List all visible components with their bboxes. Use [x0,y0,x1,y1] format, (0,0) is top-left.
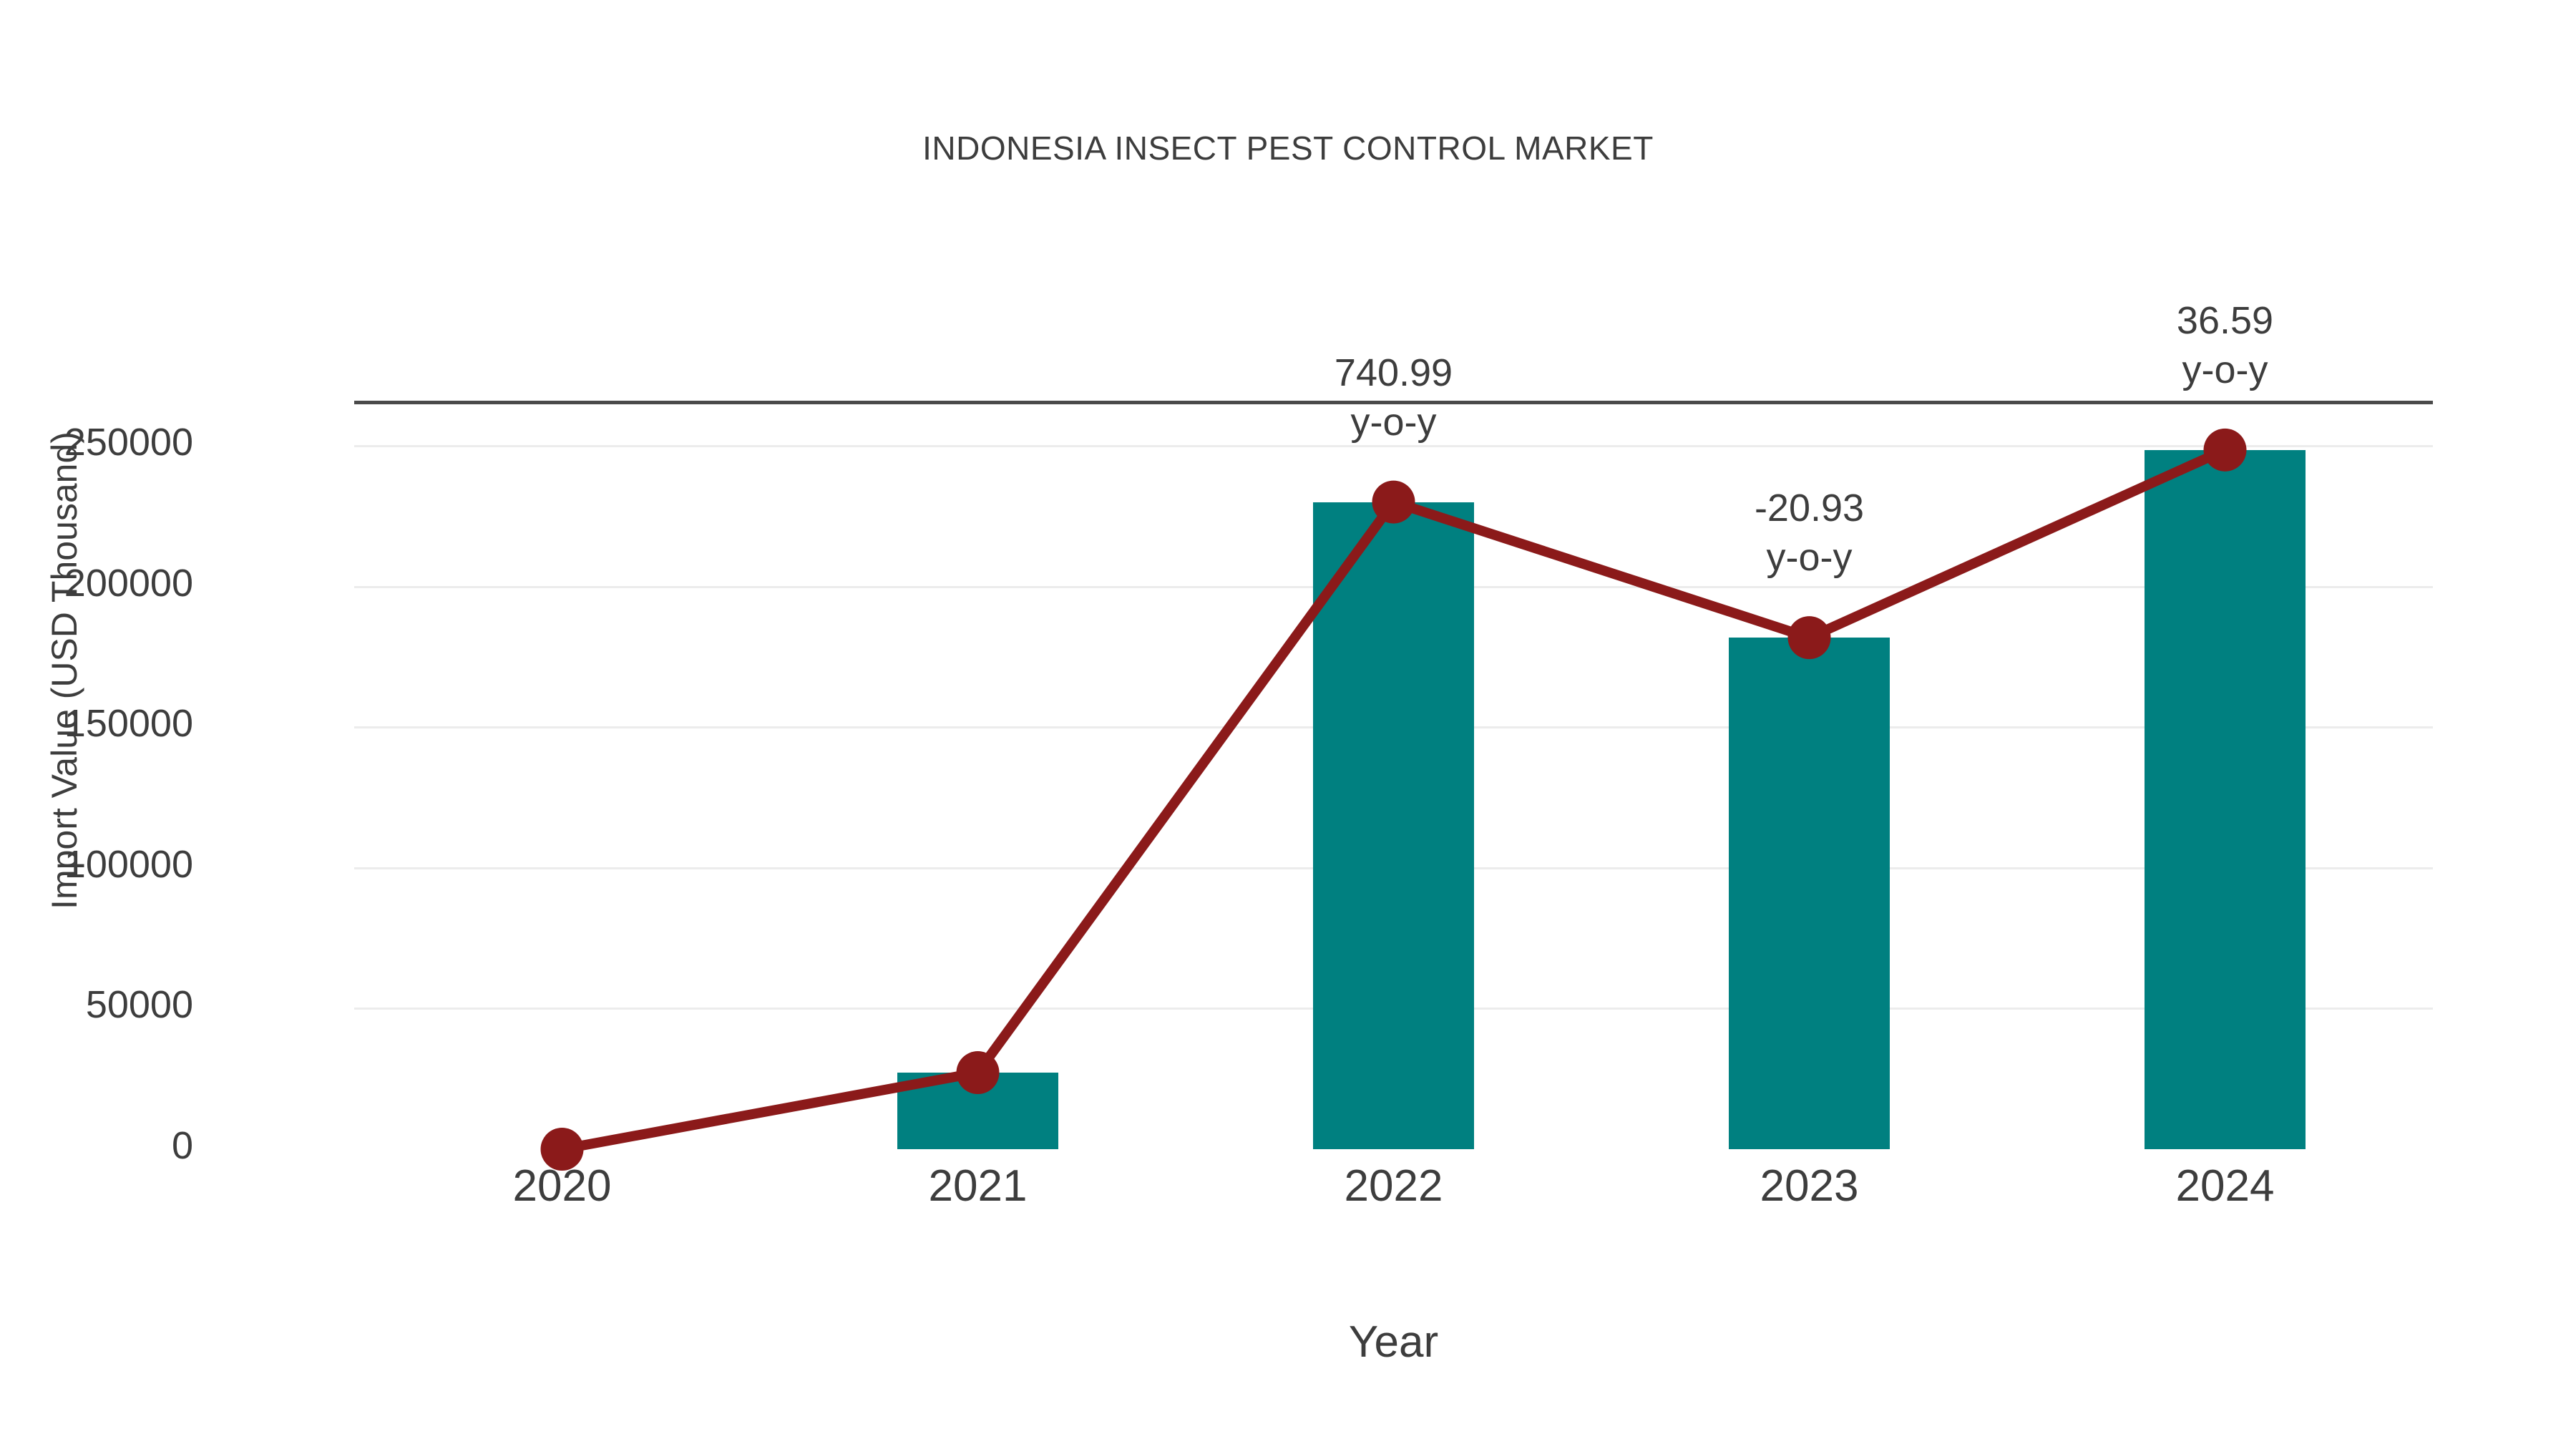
chart-title: INDONESIA INSECT PEST CONTROL MARKET [0,129,2576,167]
bar[interactable] [1313,502,1474,1149]
annotation-value: -20.93 [1755,487,1864,530]
annotation-value: 740.99 [1335,351,1453,394]
annotation-sublabel: y-o-y [2039,346,2411,395]
x-tick-label: 2020 [448,1161,677,1211]
chart-figure: INDONESIA INSECT PEST CONTROL MARKET Imp… [0,0,2576,1449]
y-tick-label: 200000 [0,561,193,605]
data-annotation: 740.99y-o-y [1208,348,1580,447]
data-annotation: -20.93y-o-y [1624,484,1996,582]
x-tick-label: 2024 [2111,1161,2340,1211]
x-tick-label: 2022 [1279,1161,1508,1211]
annotation-sublabel: y-o-y [1208,398,1580,447]
data-annotation: 36.59y-o-y [2039,296,2411,395]
bar[interactable] [2145,450,2306,1149]
x-tick-label: 2021 [864,1161,1093,1211]
x-axis-title: Year [354,1317,2433,1367]
plot-area: 050000100000150000200000250000 202020212… [354,401,2433,1149]
annotation-value: 36.59 [2177,299,2273,342]
x-tick-label: 2023 [1695,1161,1924,1211]
annotation-sublabel: y-o-y [1624,533,1996,582]
bar[interactable] [1729,638,1890,1149]
y-tick-label: 250000 [0,420,193,464]
bar[interactable] [897,1073,1058,1149]
y-tick-label: 150000 [0,701,193,746]
y-tick-label: 0 [0,1123,193,1168]
y-tick-label: 100000 [0,842,193,887]
y-tick-label: 50000 [0,982,193,1027]
